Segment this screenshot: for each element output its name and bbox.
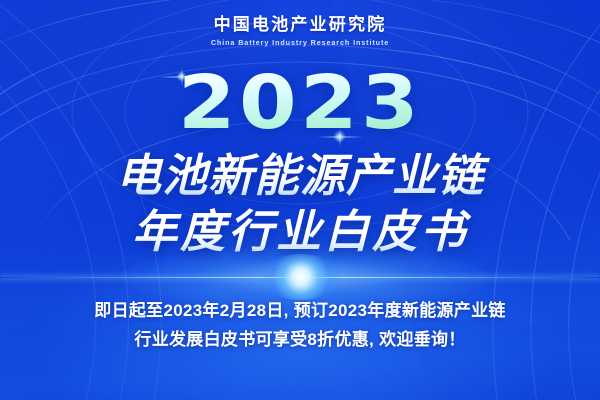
headline-block: 电池新能源产业链 年度行业白皮书	[0, 148, 600, 260]
institute-name-en: China Battery Industry Research Institut…	[0, 38, 600, 48]
year-block: 2023	[0, 66, 600, 140]
promo-line-1: 即日起至2023年2月28日, 预订2023年度新能源产业链	[0, 296, 600, 325]
year-text: 2023	[178, 66, 422, 140]
promo-line-2: 行业发展白皮书可享受8折优惠, 欢迎垂询！	[0, 325, 600, 354]
headline-line-2: 年度行业白皮书	[0, 204, 600, 260]
poster-canvas: 中国电池产业研究院 China Battery Industry Researc…	[0, 0, 600, 400]
institute-name-cn: 中国电池产业研究院	[0, 14, 600, 36]
institute-logo: 中国电池产业研究院 China Battery Industry Researc…	[0, 14, 600, 48]
headline-line-1: 电池新能源产业链	[0, 148, 600, 204]
promo-block: 即日起至2023年2月28日, 预订2023年度新能源产业链 行业发展白皮书可享…	[0, 296, 600, 354]
flare-core	[262, 254, 340, 300]
